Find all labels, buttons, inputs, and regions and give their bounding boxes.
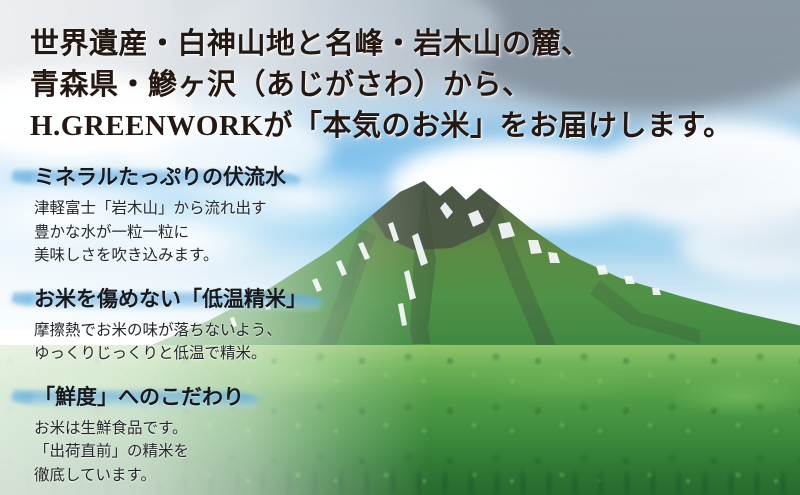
feature-body: 摩擦熱でお米の味が落ちないよう、 ゆっくりじっくりと低温で精米。 xyxy=(34,319,400,366)
headline: 世界遺産・白神山地と名峰・岩木山の麓、 青森県・鰺ヶ沢（あじがさわ）から、 H.… xyxy=(30,24,790,147)
feature-body: 津軽富士「岩木山」から流れ出す 豊かな水が一粒一粒に 美味しさを吹き込みます。 xyxy=(34,197,400,268)
feature-body-line: 「出荷直前」の精米を xyxy=(34,440,400,464)
feature-body: お米は生鮮食品です。 「出荷直前」の精米を 徹底しています。 xyxy=(34,417,400,488)
feature-heading-wrap: お米を傷めない「低温精米」 xyxy=(12,285,321,315)
feature-body-line: 摩擦熱でお米の味が落ちないよう、 xyxy=(34,319,400,343)
feature-body-line: ゆっくりじっくりと低温で精米。 xyxy=(34,342,400,366)
promo-banner: 世界遺産・白神山地と名峰・岩木山の麓、 青森県・鰺ヶ沢（あじがさわ）から、 H.… xyxy=(0,0,800,495)
feature-list: ミネラルたっぷりの伏流水 津軽富士「岩木山」から流れ出す 豊かな水が一粒一粒に … xyxy=(0,163,400,495)
feature-heading-wrap: 「鮮度」へのこだわり xyxy=(12,383,258,413)
feature-body-line: 豊かな水が一粒一粒に xyxy=(34,221,400,245)
feature-item-water: ミネラルたっぷりの伏流水 津軽富士「岩木山」から流れ出す 豊かな水が一粒一粒に … xyxy=(0,163,400,268)
feature-item-low-temp-milling: お米を傷めない「低温精米」 摩擦熱でお米の味が落ちないよう、 ゆっくりじっくりと… xyxy=(0,285,400,366)
headline-line-2: 青森県・鰺ヶ沢（あじがさわ）から、 xyxy=(30,65,790,106)
feature-heading-wrap: ミネラルたっぷりの伏流水 xyxy=(12,163,300,193)
headline-line-3: H.GREENWORKが「本気のお米」をお届けします。 xyxy=(30,106,790,147)
feature-body-line: 美味しさを吹き込みます。 xyxy=(34,244,400,268)
feature-body-line: お米は生鮮食品です。 xyxy=(34,417,400,441)
feature-heading: 「鮮度」へのこだわり xyxy=(34,383,244,413)
headline-line-1: 世界遺産・白神山地と名峰・岩木山の麓、 xyxy=(30,24,790,65)
feature-body-line: 津軽富士「岩木山」から流れ出す xyxy=(34,197,400,221)
feature-heading: ミネラルたっぷりの伏流水 xyxy=(34,163,286,193)
feature-item-freshness: 「鮮度」へのこだわり お米は生鮮食品です。 「出荷直前」の精米を 徹底しています… xyxy=(0,383,400,488)
feature-heading: お米を傷めない「低温精米」 xyxy=(34,285,307,315)
feature-body-line: 徹底しています。 xyxy=(34,464,400,488)
